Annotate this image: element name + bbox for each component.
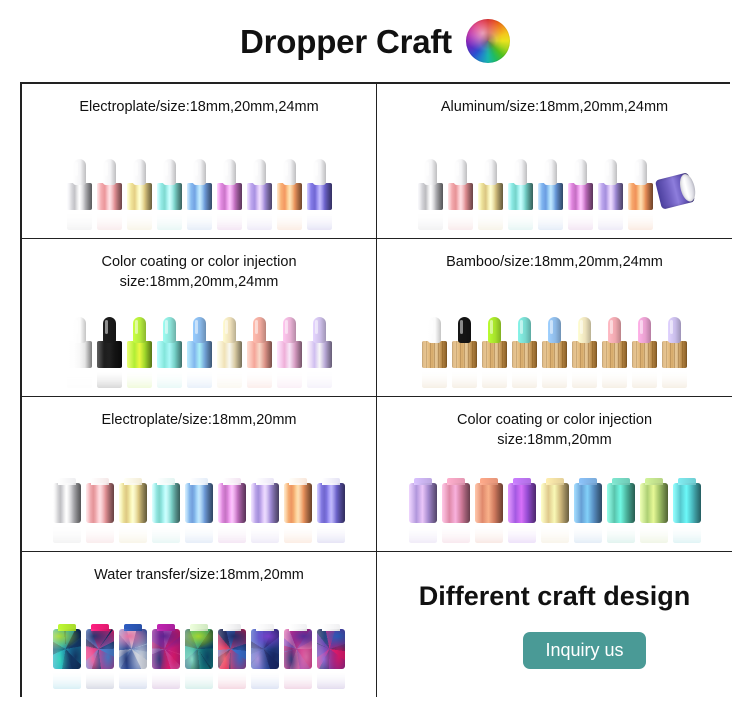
surface-highlight: [284, 629, 312, 669]
product-item: [542, 317, 567, 388]
product-strip: [22, 159, 376, 230]
product-item: [317, 483, 345, 543]
product-reflection: [218, 521, 246, 543]
surface-highlight: [317, 483, 345, 523]
cap-body: [86, 629, 114, 669]
surface-highlight: [86, 629, 114, 669]
product-reflection: [422, 366, 447, 388]
cap-body: [409, 483, 437, 523]
surface-highlight: [97, 341, 122, 368]
cap-body: [152, 629, 180, 669]
dropper-collar: [662, 341, 687, 368]
dropper-collar: [628, 183, 653, 210]
product-item: [127, 159, 152, 230]
product-item: [86, 629, 114, 689]
surface-highlight: [53, 629, 81, 669]
cap-body: [119, 483, 147, 523]
product-item: [185, 629, 213, 689]
product-item: [277, 317, 302, 388]
product-reflection: [217, 366, 242, 388]
product-reflection: [217, 208, 242, 230]
surface-highlight: [277, 341, 302, 368]
tilted-cap: [654, 172, 694, 209]
product-item: [640, 483, 668, 543]
product-reflection: [187, 366, 212, 388]
product-reflection: [448, 208, 473, 230]
product-reflection: [67, 208, 92, 230]
cap-lid: [256, 624, 274, 631]
surface-highlight: [277, 183, 302, 210]
product-reflection: [53, 667, 81, 689]
dropper-bulb: [514, 159, 527, 185]
surface-highlight: [538, 183, 563, 210]
product-item: [218, 629, 246, 689]
cap-body: [317, 629, 345, 669]
grid-cell-color-coating-dropper-24: Color coating or color injectionsize:18m…: [22, 239, 377, 397]
dropper-bulb: [253, 317, 266, 343]
product-reflection: [247, 366, 272, 388]
product-item: [53, 483, 81, 543]
product-item: [448, 159, 473, 230]
cap-lid: [190, 478, 208, 485]
cap-body: [185, 483, 213, 523]
cap-lid: [91, 478, 109, 485]
product-reflection: [409, 521, 437, 543]
dropper-bulb: [488, 317, 501, 343]
product-item: [508, 483, 536, 543]
product-item: [598, 159, 623, 230]
product-item: [662, 317, 687, 388]
surface-highlight: [217, 183, 242, 210]
surface-highlight: [157, 183, 182, 210]
product-item: [157, 317, 182, 388]
surface-highlight: [572, 341, 597, 368]
product-reflection: [97, 208, 122, 230]
dropper-collar: [568, 183, 593, 210]
dropper-collar: [187, 341, 212, 368]
product-grid: Electroplate/size:18mm,20mm,24mmAluminum…: [20, 82, 730, 697]
product-item: [119, 483, 147, 543]
cap-body: [251, 629, 279, 669]
dropper-bulb: [544, 159, 557, 185]
cap-lid: [91, 624, 109, 631]
product-reflection: [307, 208, 332, 230]
dropper-collar: [448, 183, 473, 210]
dropper-bulb: [518, 317, 531, 343]
dropper-bulb: [283, 317, 296, 343]
surface-highlight: [67, 341, 92, 368]
surface-highlight: [127, 341, 152, 368]
dropper-bulb: [313, 159, 326, 185]
surface-highlight: [673, 483, 701, 523]
grid-cell-aluminum-dropper-24: Aluminum/size:18mm,20mm,24mm: [377, 84, 732, 239]
product-item: [284, 483, 312, 543]
cell-label: Bamboo/size:18mm,20mm,24mm: [377, 239, 732, 273]
cell-label: Electroplate/size:18mm,20mm: [22, 397, 376, 431]
product-item: [157, 159, 182, 230]
cap-body: [218, 629, 246, 669]
product-reflection: [284, 667, 312, 689]
product-item: [152, 629, 180, 689]
product-item: [218, 483, 246, 543]
cap-body: [541, 483, 569, 523]
cap-lid: [645, 478, 663, 485]
surface-highlight: [284, 483, 312, 523]
page-title: Dropper Craft: [240, 25, 452, 58]
product-reflection: [574, 521, 602, 543]
dropper-bulb: [133, 317, 146, 343]
surface-highlight: [119, 483, 147, 523]
product-item: [602, 317, 627, 388]
dropper-bulb: [103, 159, 116, 185]
product-reflection: [185, 521, 213, 543]
product-item: [247, 159, 272, 230]
product-reflection: [442, 521, 470, 543]
cap-lid: [124, 478, 142, 485]
surface-highlight: [662, 341, 687, 368]
product-reflection: [86, 521, 114, 543]
color-wheel-icon: [466, 19, 510, 63]
dropper-collar: [572, 341, 597, 368]
dropper-bulb: [163, 317, 176, 343]
surface-highlight: [452, 341, 477, 368]
surface-highlight: [422, 341, 447, 368]
dropper-bulb: [73, 317, 86, 343]
product-item: [452, 317, 477, 388]
dropper-collar: [67, 341, 92, 368]
product-reflection: [452, 366, 477, 388]
surface-highlight: [97, 183, 122, 210]
product-item: [538, 159, 563, 230]
surface-highlight: [640, 483, 668, 523]
product-item: [512, 317, 537, 388]
dropper-collar: [217, 341, 242, 368]
cap-body: [508, 483, 536, 523]
page-header: Dropper Craft: [0, 0, 750, 82]
product-strip: [377, 159, 732, 230]
surface-highlight: [185, 483, 213, 523]
product-reflection: [119, 667, 147, 689]
surface-highlight: [541, 483, 569, 523]
surface-highlight: [542, 341, 567, 368]
product-reflection: [598, 208, 623, 230]
product-item: [607, 483, 635, 543]
dropper-bulb: [103, 317, 116, 343]
product-item-tilted-cap: [658, 176, 692, 230]
dropper-bulb: [133, 159, 146, 185]
product-item: [307, 317, 332, 388]
product-reflection: [538, 208, 563, 230]
product-item: [67, 159, 92, 230]
dropper-collar: [97, 341, 122, 368]
product-item: [307, 159, 332, 230]
surface-highlight: [512, 341, 537, 368]
dropper-bulb: [638, 317, 651, 343]
cap-lid: [546, 478, 564, 485]
dropper-collar: [307, 341, 332, 368]
inquiry-us-button[interactable]: Inquiry us: [523, 632, 645, 669]
product-reflection: [251, 667, 279, 689]
dropper-bulb: [223, 317, 236, 343]
dropper-bulb: [163, 159, 176, 185]
surface-highlight: [508, 183, 533, 210]
grid-cell-color-coating-cap-20: Color coating or color injectionsize:18m…: [377, 397, 732, 552]
product-item: [67, 317, 92, 388]
surface-highlight: [475, 483, 503, 523]
product-strip: [22, 483, 376, 543]
product-item: [97, 159, 122, 230]
product-reflection: [508, 208, 533, 230]
product-item: [251, 483, 279, 543]
cell-label: Color coating or color injectionsize:18m…: [377, 397, 732, 450]
dropper-collar: [538, 183, 563, 210]
dropper-collar: [508, 183, 533, 210]
surface-highlight: [218, 483, 246, 523]
dropper-bulb: [634, 159, 647, 185]
product-reflection: [542, 366, 567, 388]
product-reflection: [572, 366, 597, 388]
cap-body: [185, 629, 213, 669]
dropper-collar: [67, 183, 92, 210]
surface-highlight: [247, 341, 272, 368]
dropper-bulb: [454, 159, 467, 185]
surface-highlight: [508, 483, 536, 523]
product-reflection: [119, 521, 147, 543]
cap-body: [607, 483, 635, 523]
surface-highlight: [574, 483, 602, 523]
cap-lid: [58, 478, 76, 485]
product-item: [541, 483, 569, 543]
product-reflection: [86, 667, 114, 689]
product-reflection: [251, 521, 279, 543]
product-reflection: [127, 366, 152, 388]
product-reflection: [475, 521, 503, 543]
product-item: [628, 159, 653, 230]
dropper-bulb: [574, 159, 587, 185]
cap-body: [53, 483, 81, 523]
surface-highlight: [185, 629, 213, 669]
cap-body: [251, 483, 279, 523]
product-reflection: [568, 208, 593, 230]
surface-highlight: [598, 183, 623, 210]
cell-label-line2: size:18mm,20mm: [387, 431, 722, 451]
cap-lid: [58, 624, 76, 631]
surface-highlight: [67, 183, 92, 210]
cta-block: Different craft designInquiry us: [377, 552, 732, 697]
product-reflection: [673, 521, 701, 543]
product-item: [187, 317, 212, 388]
product-item: [217, 317, 242, 388]
dropper-collar: [307, 183, 332, 210]
product-reflection: [53, 521, 81, 543]
cta-title: Different craft design: [419, 581, 691, 612]
product-item: [673, 483, 701, 543]
dropper-bulb: [428, 317, 441, 343]
cap-body: [284, 629, 312, 669]
cap-lid: [157, 478, 175, 485]
surface-highlight: [127, 183, 152, 210]
cap-body: [218, 483, 246, 523]
cap-body: [673, 483, 701, 523]
cap-lid: [612, 478, 630, 485]
surface-highlight: [632, 341, 657, 368]
cap-body: [574, 483, 602, 523]
dropper-collar: [127, 341, 152, 368]
dropper-collar: [418, 183, 443, 210]
product-item: [251, 629, 279, 689]
product-item: [475, 483, 503, 543]
cell-label-line2: size:18mm,20mm,24mm: [32, 273, 366, 293]
cap-lid: [480, 478, 498, 485]
cap-body: [152, 483, 180, 523]
cap-body: [53, 629, 81, 669]
dropper-collar: [277, 341, 302, 368]
cap-lid: [124, 624, 142, 631]
cap-lid: [289, 624, 307, 631]
surface-highlight: [247, 183, 272, 210]
cap-body: [640, 483, 668, 523]
product-reflection: [127, 208, 152, 230]
product-item: [127, 317, 152, 388]
product-reflection: [247, 208, 272, 230]
dropper-bulb: [668, 317, 681, 343]
dropper-collar: [247, 183, 272, 210]
product-item: [247, 317, 272, 388]
cap-lid: [289, 478, 307, 485]
surface-highlight: [157, 341, 182, 368]
cell-label: Water transfer/size:18mm,20mm: [22, 552, 376, 586]
grid-cell-cta: Different craft designInquiry us: [377, 552, 732, 697]
dropper-bulb: [548, 317, 561, 343]
dropper-collar: [512, 341, 537, 368]
product-item: [86, 483, 114, 543]
surface-highlight: [482, 341, 507, 368]
product-reflection: [157, 366, 182, 388]
product-reflection: [218, 667, 246, 689]
cell-label: Aluminum/size:18mm,20mm,24mm: [377, 84, 732, 118]
product-reflection: [152, 521, 180, 543]
product-reflection: [185, 667, 213, 689]
product-strip: [22, 629, 376, 689]
dropper-bulb: [424, 159, 437, 185]
surface-highlight: [218, 629, 246, 669]
product-reflection: [628, 208, 653, 230]
surface-highlight: [409, 483, 437, 523]
product-reflection: [307, 366, 332, 388]
surface-highlight: [119, 629, 147, 669]
product-reflection: [67, 366, 92, 388]
grid-cell-electroplate-cap-20: Electroplate/size:18mm,20mm: [22, 397, 377, 552]
product-reflection: [97, 366, 122, 388]
cap-lid: [513, 478, 531, 485]
product-reflection: [541, 521, 569, 543]
product-reflection: [478, 208, 503, 230]
surface-highlight: [607, 483, 635, 523]
grid-cell-electroplate-dropper-24: Electroplate/size:18mm,20mm,24mm: [22, 84, 377, 239]
dropper-bulb: [73, 159, 86, 185]
cap-lid: [190, 624, 208, 631]
dropper-bulb: [578, 317, 591, 343]
surface-highlight: [53, 483, 81, 523]
dropper-collar: [542, 341, 567, 368]
product-item: [478, 159, 503, 230]
dropper-collar: [127, 183, 152, 210]
surface-highlight: [317, 629, 345, 669]
product-item: [572, 317, 597, 388]
product-item: [574, 483, 602, 543]
product-item: [317, 629, 345, 689]
dropper-collar: [422, 341, 447, 368]
cap-lid: [157, 624, 175, 631]
product-item: [97, 317, 122, 388]
product-item: [409, 483, 437, 543]
product-item: [284, 629, 312, 689]
product-reflection: [418, 208, 443, 230]
cap-lid: [223, 478, 241, 485]
surface-highlight: [187, 183, 212, 210]
surface-highlight: [217, 341, 242, 368]
product-item: [119, 629, 147, 689]
surface-highlight: [86, 483, 114, 523]
surface-highlight: [448, 183, 473, 210]
product-item: [277, 159, 302, 230]
product-reflection: [602, 366, 627, 388]
product-item: [53, 629, 81, 689]
product-reflection: [277, 208, 302, 230]
product-item: [482, 317, 507, 388]
product-item: [442, 483, 470, 543]
dropper-bulb: [253, 159, 266, 185]
dropper-bulb: [604, 159, 617, 185]
dropper-bulb: [608, 317, 621, 343]
grid-cell-water-transfer-cap-20: Water transfer/size:18mm,20mm: [22, 552, 377, 697]
dropper-collar: [277, 183, 302, 210]
product-item: [422, 317, 447, 388]
surface-highlight: [187, 341, 212, 368]
grid-cell-bamboo-dropper-24: Bamboo/size:18mm,20mm,24mm: [377, 239, 732, 397]
product-item: [185, 483, 213, 543]
product-reflection: [662, 366, 687, 388]
product-item: [508, 159, 533, 230]
dropper-bulb: [193, 317, 206, 343]
surface-highlight: [152, 629, 180, 669]
dropper-collar: [247, 341, 272, 368]
cap-body: [284, 483, 312, 523]
product-item: [152, 483, 180, 543]
dropper-collar: [482, 341, 507, 368]
product-reflection: [508, 521, 536, 543]
product-strip: [377, 317, 732, 388]
dropper-bulb: [193, 159, 206, 185]
cap-body: [475, 483, 503, 523]
surface-highlight: [628, 183, 653, 210]
surface-highlight: [307, 341, 332, 368]
surface-highlight: [152, 483, 180, 523]
product-reflection: [317, 667, 345, 689]
product-item: [632, 317, 657, 388]
dropper-collar: [157, 183, 182, 210]
dropper-bulb: [223, 159, 236, 185]
cap-body: [317, 483, 345, 523]
product-item: [217, 159, 242, 230]
dropper-collar: [97, 183, 122, 210]
dropper-collar: [598, 183, 623, 210]
surface-highlight: [602, 341, 627, 368]
cap-lid: [322, 478, 340, 485]
cap-body: [442, 483, 470, 523]
dropper-bulb: [283, 159, 296, 185]
surface-highlight: [478, 183, 503, 210]
